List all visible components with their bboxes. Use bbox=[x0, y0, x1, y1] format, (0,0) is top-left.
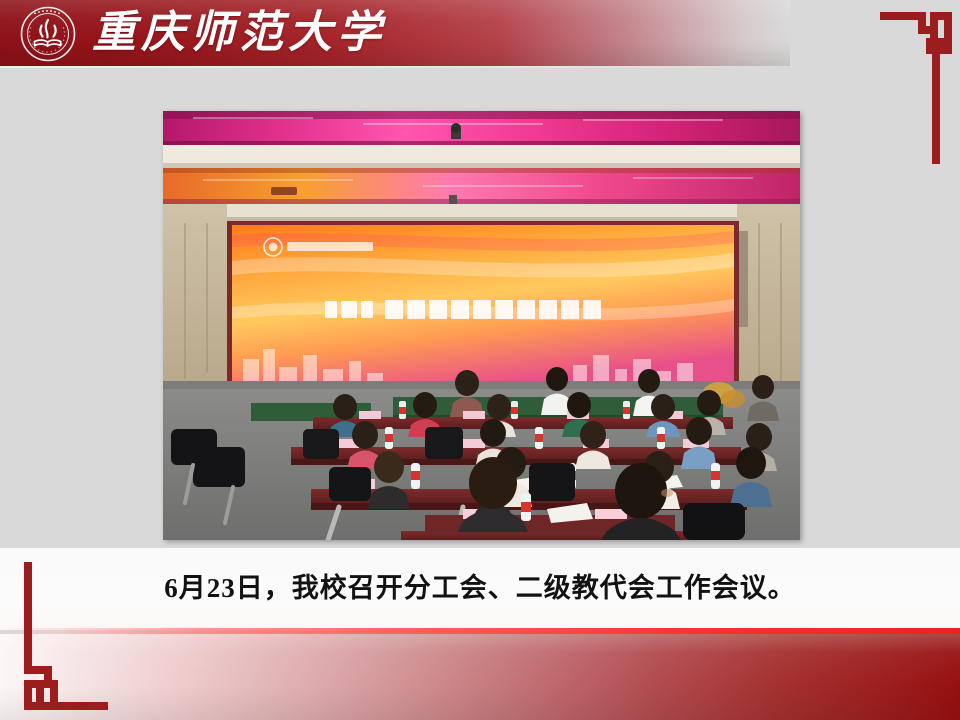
header-divider bbox=[0, 66, 960, 68]
chinese-meander-corner-icon bbox=[10, 562, 115, 714]
presentation-slide: 重庆师范大学 bbox=[0, 0, 960, 720]
conference-photo bbox=[163, 111, 800, 540]
university-name: 重庆师范大学 bbox=[92, 4, 386, 62]
chinese-meander-corner-icon bbox=[880, 6, 952, 171]
footer-banner bbox=[0, 634, 960, 720]
slide-caption: 6月23日，我校召开分工会、二级教代会工作会议。 bbox=[0, 566, 960, 605]
university-seal-icon bbox=[20, 6, 76, 62]
